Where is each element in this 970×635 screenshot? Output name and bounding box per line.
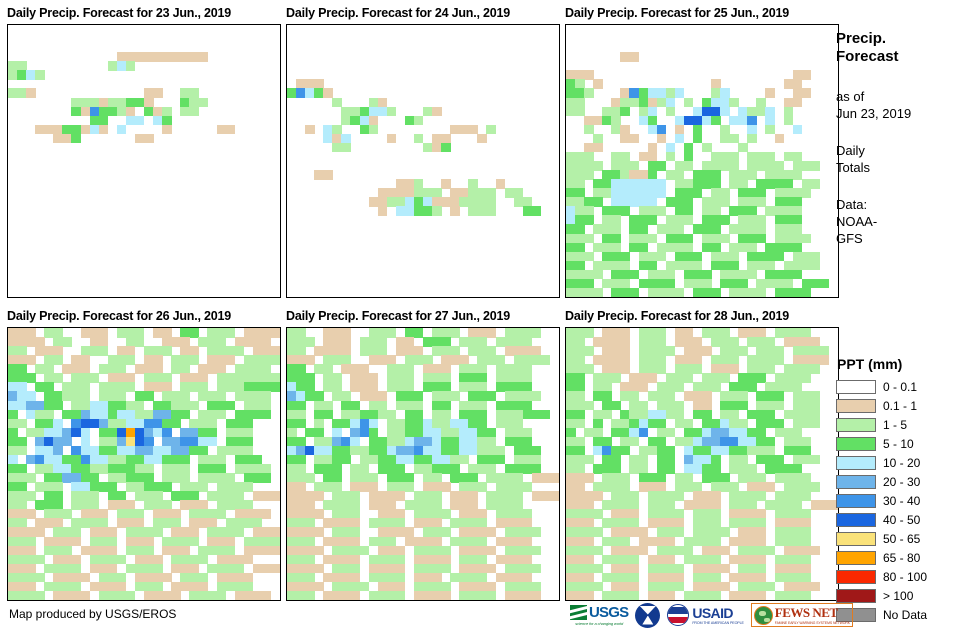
raster-cell: [765, 88, 775, 98]
map-panel-title: Daily Precip. Forecast for 25 Jun., 2019: [565, 6, 839, 20]
map-canvas[interactable]: [565, 24, 839, 298]
map-credit: Map produced by USGS/EROS: [9, 607, 176, 621]
legend-swatch: [836, 399, 876, 413]
map-panel: Daily Precip. Forecast for 28 Jun., 2019: [565, 309, 839, 601]
raster-cell: [793, 125, 803, 135]
raster-cell: [620, 134, 639, 144]
raster-cell: [396, 206, 415, 216]
raster-cell: [505, 591, 542, 601]
usgs-logo-text: USGS: [589, 604, 628, 621]
raster-cell: [135, 116, 145, 126]
raster-cell: [414, 591, 451, 601]
raster-cell: [53, 134, 72, 144]
map-canvas[interactable]: [565, 327, 839, 601]
legend-label: 5 - 10: [883, 437, 914, 451]
legend-label: 30 - 40: [883, 494, 920, 508]
precip-raster: [287, 328, 559, 600]
legend-swatch: [836, 456, 876, 470]
page-title: Precip.Forecast: [836, 30, 968, 66]
noaa-seal-icon: [635, 603, 660, 628]
legend-swatch: [836, 437, 876, 451]
raster-cell: [432, 107, 442, 117]
legend-label: 50 - 65: [883, 532, 920, 546]
precip-raster: [287, 25, 559, 297]
as-of-block: as of Jun 23, 2019: [836, 88, 968, 122]
legend-label: 80 - 100: [883, 570, 927, 584]
legend-row: 20 - 30: [836, 472, 970, 491]
raster-cell: [387, 134, 397, 144]
precip-forecast-map-page: Daily Precip. Forecast for 23 Jun., 2019…: [0, 0, 970, 635]
fews-globe-icon: [754, 606, 773, 625]
legend-row: 30 - 40: [836, 491, 970, 510]
legend-swatch: [836, 418, 876, 432]
raster-cell: [369, 125, 379, 135]
raster-cell: [162, 125, 172, 135]
raster-cell: [620, 52, 639, 62]
legend-swatch: [836, 551, 876, 565]
map-panel: Daily Precip. Forecast for 26 Jun., 2019: [7, 309, 281, 601]
map-panel: Daily Precip. Forecast for 25 Jun., 2019: [565, 6, 839, 298]
legend-swatch: [836, 494, 876, 508]
raster-cell: [729, 288, 766, 298]
raster-cell: [593, 79, 603, 89]
legend-row: 80 - 100: [836, 567, 970, 586]
raster-cell: [226, 125, 236, 135]
raster-cell: [99, 125, 109, 135]
raster-cell: [189, 591, 226, 601]
usaid-tagline: FROM THE AMERICAN PEOPLE: [692, 621, 743, 625]
as-of-label: as of: [836, 88, 968, 105]
map-panel-title: Daily Precip. Forecast for 26 Jun., 2019: [7, 309, 281, 323]
map-panel-title: Daily Precip. Forecast for 24 Jun., 2019: [286, 6, 560, 20]
raster-cell: [26, 88, 36, 98]
legend-swatch: [836, 532, 876, 546]
raster-cell: [117, 125, 127, 135]
raster-cell: [144, 591, 181, 601]
legend-row: 5 - 10: [836, 434, 970, 453]
legend-row: 40 - 50: [836, 510, 970, 529]
raster-cell: [532, 473, 560, 483]
raster-cell: [432, 206, 442, 216]
raster-cell: [532, 491, 560, 501]
raster-cell: [53, 591, 90, 601]
legend-label: 20 - 30: [883, 475, 920, 489]
legend-label: 40 - 50: [883, 513, 920, 527]
raster-cell: [523, 410, 551, 420]
raster-cell: [775, 288, 812, 298]
precip-raster: [566, 328, 838, 600]
map-canvas[interactable]: [7, 327, 281, 601]
raster-cell: [414, 206, 433, 216]
legend-row: 10 - 20: [836, 453, 970, 472]
legend-label: 65 - 80: [883, 551, 920, 565]
fews-tagline: FAMINE EARLY WARNING SYSTEMS NETWORK: [775, 621, 850, 625]
legend-swatch: [836, 570, 876, 584]
raster-cell: [235, 591, 272, 601]
raster-cell: [729, 116, 748, 126]
raster-cell: [441, 143, 451, 153]
usaid-seal-icon: [667, 604, 689, 626]
raster-cell: [153, 88, 163, 98]
raster-cell: [620, 107, 630, 117]
raster-cell: [693, 288, 721, 298]
map-panel: Daily Precip. Forecast for 27 Jun., 2019: [286, 309, 560, 601]
raster-cell: [459, 591, 496, 601]
raster-cell: [566, 107, 585, 117]
raster-cell: [180, 107, 199, 117]
precip-raster: [8, 328, 280, 600]
map-canvas[interactable]: [286, 327, 560, 601]
legend-row: No Data: [836, 605, 970, 624]
raster-cell: [35, 125, 54, 135]
as-of-date: Jun 23, 2019: [836, 105, 968, 122]
legend-title: PPT (mm): [837, 356, 970, 372]
raster-cell: [332, 143, 351, 153]
raster-cell: [314, 170, 333, 180]
legend-swatch: [836, 475, 876, 489]
logo-strip: USGS science for a changing world USAID …: [570, 600, 853, 630]
legend-row: 50 - 65: [836, 529, 970, 548]
legend-row: 65 - 80: [836, 548, 970, 567]
raster-cell: [450, 206, 460, 216]
legend-label: No Data: [883, 608, 927, 622]
map-canvas[interactable]: [286, 24, 560, 298]
usgs-mark-icon: [570, 605, 587, 620]
raster-cell: [378, 206, 388, 216]
raster-cell: [747, 134, 757, 144]
usgs-logo: USGS science for a changing world: [570, 601, 628, 629]
raster-cell: [414, 116, 424, 126]
raster-cell: [459, 125, 478, 135]
raster-cell: [387, 107, 397, 117]
legend-label: 0 - 0.1: [883, 380, 917, 394]
raster-cell: [775, 134, 785, 144]
legend-row: 1 - 5: [836, 415, 970, 434]
legend-swatch: [836, 513, 876, 527]
legend-swatch: [836, 380, 876, 394]
usgs-tagline: science for a changing world: [575, 621, 623, 626]
noaa-logo: [635, 601, 660, 629]
raster-cell: [523, 206, 542, 216]
raster-cell: [287, 591, 315, 601]
raster-cell: [135, 134, 154, 144]
raster-cell: [126, 61, 136, 71]
data-source-block: Data: NOAA-GFS: [836, 196, 968, 247]
raster-cell: [323, 591, 360, 601]
legend-label: > 100: [883, 589, 913, 603]
raster-cell: [811, 500, 839, 510]
data-source: NOAA-GFS: [836, 213, 968, 247]
precip-raster: [8, 25, 280, 297]
raster-cell: [99, 591, 136, 601]
legend-label: 1 - 5: [883, 418, 907, 432]
raster-cell: [611, 288, 639, 298]
legend-rows: 0 - 0.10.1 - 11 - 55 - 1010 - 2020 - 303…: [836, 377, 970, 624]
map-panel-title: Daily Precip. Forecast for 27 Jun., 2019: [286, 309, 560, 323]
raster-cell: [253, 491, 281, 501]
raster-cell: [369, 591, 406, 601]
map-panel: Daily Precip. Forecast for 24 Jun., 2019: [286, 6, 560, 298]
info-column: Precip.Forecast as of Jun 23, 2019 Daily…: [836, 30, 968, 267]
map-panel-title: Daily Precip. Forecast for 28 Jun., 2019: [565, 309, 839, 323]
raster-cell: [305, 125, 315, 135]
map-panel: Daily Precip. Forecast for 23 Jun., 2019: [7, 6, 281, 298]
raster-cell: [35, 70, 45, 80]
usaid-logo: USAID FROM THE AMERICAN PEOPLE: [667, 601, 743, 629]
precip-raster: [566, 25, 838, 297]
totals-label: DailyTotals: [836, 142, 968, 176]
usaid-logo-text: USAID: [692, 605, 743, 621]
map-canvas[interactable]: [7, 24, 281, 298]
raster-cell: [566, 288, 603, 298]
raster-cell: [648, 288, 685, 298]
raster-cell: [477, 134, 487, 144]
data-label: Data:: [836, 196, 968, 213]
legend-row: > 100: [836, 586, 970, 605]
legend-row: 0 - 0.1: [836, 377, 970, 396]
raster-cell: [253, 564, 281, 574]
fews-logo-text: FEWS NET: [775, 605, 850, 621]
fews-net-logo: FEWS NET FAMINE EARLY WARNING SYSTEMS NE…: [751, 601, 853, 629]
legend: PPT (mm) 0 - 0.10.1 - 11 - 55 - 1010 - 2…: [836, 356, 970, 624]
legend-label: 10 - 20: [883, 456, 920, 470]
legend-label: 0.1 - 1: [883, 399, 917, 413]
legend-row: 0.1 - 1: [836, 396, 970, 415]
raster-cell: [468, 206, 496, 216]
raster-cell: [584, 88, 594, 98]
raster-cell: [8, 591, 45, 601]
raster-cell: [720, 134, 739, 144]
raster-cell: [71, 134, 81, 144]
raster-cell: [8, 88, 27, 98]
map-panel-title: Daily Precip. Forecast for 23 Jun., 2019: [7, 6, 281, 20]
raster-cell: [486, 125, 496, 135]
